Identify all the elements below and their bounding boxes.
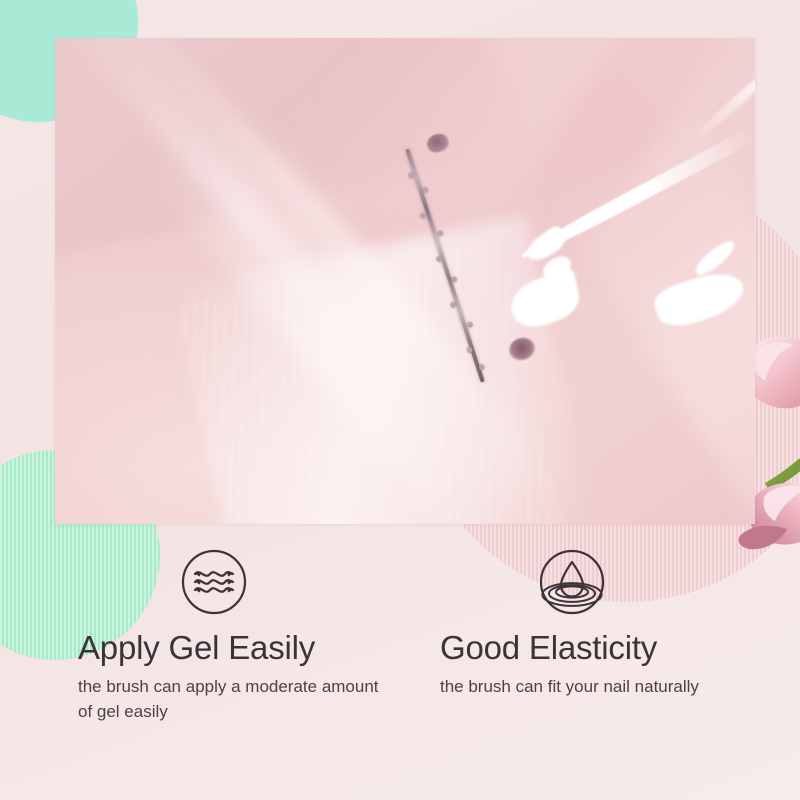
product-photo (55, 38, 755, 524)
waves-icon (180, 548, 248, 616)
feature-list: Apply Gel Easily the brush can apply a m… (0, 548, 800, 800)
glitter-fleck (408, 172, 414, 178)
product-feature-banner: Apply Gel Easily the brush can apply a m… (0, 0, 800, 800)
glitter-fleck (437, 230, 443, 236)
glitter-fleck (420, 213, 426, 219)
glitter-fleck (479, 364, 485, 370)
feature-title: Good Elasticity (440, 630, 790, 667)
tulip-leaf (765, 435, 800, 491)
glitter-fleck (422, 187, 428, 193)
glitter-fleck (467, 322, 473, 328)
glitter-fleck (451, 276, 457, 282)
feature-apply-gel-easily: Apply Gel Easily the brush can apply a m… (78, 548, 428, 724)
glitter-fleck (450, 302, 456, 308)
feature-title: Apply Gel Easily (78, 630, 428, 667)
feature-description: the brush can apply a moderate amount of… (78, 675, 388, 724)
feature-good-elasticity: Good Elasticity the brush can fit your n… (440, 548, 790, 700)
water-drop-icon (538, 548, 606, 616)
feature-description: the brush can fit your nail naturally (440, 675, 790, 700)
